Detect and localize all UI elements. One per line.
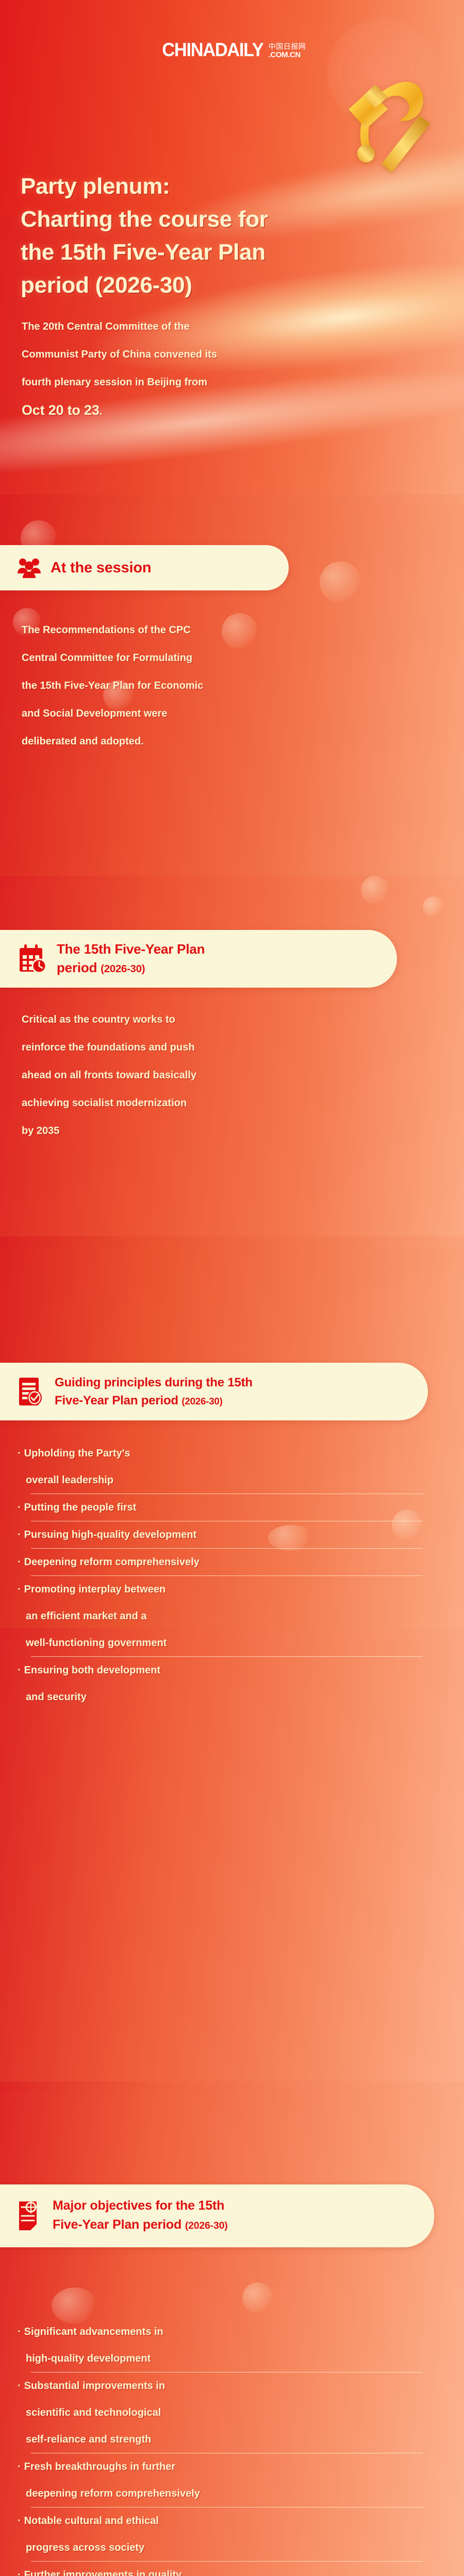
list-item-line: ·Upholding the Party's — [18, 1440, 436, 1467]
list-item-line: well-functioning government — [18, 1630, 436, 1656]
document-target-icon — [18, 2200, 43, 2232]
bullet-marker: · — [18, 1448, 21, 1459]
list-item: ·Ensuring both development and security — [18, 1657, 436, 1710]
list-item-text: Pursuing high-quality development — [24, 1529, 196, 1540]
list-item-text: Further improvements in quality — [24, 2569, 182, 2576]
brand-chinese-name: 中国日报网 — [269, 43, 306, 50]
intro-line-highlight: Oct 20 to 23. — [22, 396, 429, 426]
infographic-poster: CHINADAILY 中国日报网 .COM.CN — [0, 0, 464, 2576]
list-item-line: deepening reform comprehensively — [18, 2480, 436, 2507]
bullet-marker: · — [18, 1584, 21, 1595]
list-item-line: and security — [18, 1684, 436, 1710]
list-item-line: ·Significant advancements in — [18, 2318, 436, 2345]
title-line: the 15th Five-Year Plan — [21, 236, 428, 269]
badge-label: Guiding principles during the 15th Five-… — [55, 1374, 253, 1410]
hammer-and-sickle-icon — [334, 66, 437, 177]
intro-period: . — [100, 406, 103, 417]
bokeh-circle — [423, 896, 443, 917]
badge-label: At the session — [51, 559, 151, 577]
document-check-icon — [18, 1377, 45, 1406]
body-line: by 2035 — [22, 1117, 434, 1145]
section-badge-plan-period[interactable]: The 15th Five-Year Plan period (2026-30) — [0, 930, 397, 988]
title-line: period (2026-30) — [21, 269, 428, 302]
bullet-marker: · — [18, 2461, 21, 2472]
title-line: Party plenum: — [21, 170, 428, 203]
badge-label-line1: Guiding principles during the 15th — [55, 1376, 253, 1389]
list-item: ·Fresh breakthroughs in further deepenin… — [18, 2453, 436, 2507]
body-line: achieving socialist modernization — [22, 1089, 434, 1117]
session-dates: Oct 20 to 23 — [22, 402, 100, 418]
list-item: ·Significant advancements in high-qualit… — [18, 2318, 436, 2372]
list-item-line: ·Pursuing high-quality development — [18, 1521, 436, 1548]
list-item: ·Pursuing high-quality development — [18, 1521, 436, 1548]
body-line: ahead on all fronts toward basically — [22, 1061, 434, 1089]
bullet-marker: · — [18, 1502, 21, 1513]
list-item-text: Significant advancements in — [24, 2326, 163, 2337]
badge-label-subtitle: (2026-30) — [101, 963, 145, 975]
list-item-text: Promoting interplay between — [24, 1584, 165, 1595]
body-line: the 15th Five-Year Plan for Economic — [22, 672, 434, 700]
list-item: ·Substantial improvements in scientific … — [18, 2372, 436, 2453]
list-item-text: Putting the people first — [24, 1502, 137, 1513]
body-line: and Social Development were — [22, 700, 434, 727]
list-item-line: high-quality development — [18, 2345, 436, 2372]
badge-label-line2: Five-Year Plan period — [55, 1394, 178, 1408]
list-item-text: Fresh breakthroughs in further — [24, 2461, 175, 2472]
intro-paragraph: The 20th Central Committee of the Commun… — [22, 313, 429, 426]
list-item-text: Upholding the Party's — [24, 1448, 130, 1459]
list-item: ·Notable cultural and ethical progress a… — [18, 2507, 436, 2561]
bokeh-circle — [242, 2282, 273, 2313]
list-item-line: ·Notable cultural and ethical — [18, 2507, 436, 2534]
list-item-text: Ensuring both development — [24, 1665, 160, 1676]
major-objectives-list: ·Significant advancements in high-qualit… — [18, 2318, 436, 2576]
body-line: The Recommendations of the CPC — [22, 616, 434, 644]
badge-label: The 15th Five-Year Plan period (2026-30) — [57, 940, 205, 978]
list-item-line: ·Ensuring both development — [18, 1657, 436, 1684]
list-item-line: ·Fresh breakthroughs in further — [18, 2453, 436, 2480]
badge-label-subtitle: (2026-30) — [181, 1396, 222, 1406]
bullet-marker: · — [18, 1556, 21, 1568]
list-item-text: Notable cultural and ethical — [24, 2515, 159, 2527]
intro-line: Communist Party of China convened its — [22, 341, 429, 368]
list-item-line: overall leadership — [18, 1467, 436, 1494]
list-item-line: ·Deepening reform comprehensively — [18, 1549, 436, 1575]
bullet-marker: · — [18, 1529, 21, 1540]
people-group-icon — [18, 557, 41, 578]
bullet-marker: · — [18, 2515, 21, 2527]
list-item-line: ·Further improvements in quality — [18, 2562, 436, 2576]
list-item-line: an efficient market and a — [18, 1603, 436, 1630]
badge-label-line2: period — [57, 960, 97, 975]
section-badge-at-the-session[interactable]: At the session — [0, 545, 289, 590]
body-line: Central Committee for Formulating — [22, 644, 434, 672]
list-item-text: Substantial improvements in — [24, 2380, 165, 2392]
bullet-marker: · — [18, 2569, 21, 2576]
guiding-principles-list: ·Upholding the Party's overall leadershi… — [18, 1440, 436, 1710]
section-body-plan-period: Critical as the country works to reinfor… — [22, 1006, 434, 1145]
list-item: ·Promoting interplay between an efficien… — [18, 1576, 436, 1656]
list-item-line: ·Promoting interplay between — [18, 1576, 436, 1603]
bokeh-circle — [361, 876, 389, 904]
header-logo: CHINADAILY 中国日报网 .COM.CN — [0, 40, 464, 59]
list-item: ·Deepening reform comprehensively — [18, 1549, 436, 1575]
brand-domain: .COM.CN — [269, 51, 301, 59]
section-badge-major-objectives[interactable]: Major objectives for the 15th Five-Year … — [0, 2184, 434, 2247]
bullet-marker: · — [18, 2380, 21, 2392]
bullet-marker: · — [18, 1665, 21, 1676]
badge-label-line2: Five-Year Plan period — [53, 2217, 181, 2232]
section-body-at-the-session: The Recommendations of the CPC Central C… — [22, 616, 434, 755]
body-line: Critical as the country works to — [22, 1006, 434, 1033]
badge-label-line1: The 15th Five-Year Plan — [57, 941, 205, 957]
body-line: deliberated and adopted. — [22, 727, 434, 755]
bokeh-circle — [320, 562, 361, 603]
brand-wordmark: CHINADAILY — [162, 40, 263, 59]
list-item-line: ·Putting the people first — [18, 1494, 436, 1521]
badge-label-subtitle: (2026-30) — [185, 2220, 228, 2231]
list-item: ·Putting the people first — [18, 1494, 436, 1521]
list-item-line: ·Substantial improvements in — [18, 2372, 436, 2399]
list-item-line: self-reliance and strength — [18, 2426, 436, 2453]
list-item: ·Further improvements in quality of life — [18, 2562, 436, 2576]
list-item-line: scientific and technological — [18, 2399, 436, 2426]
list-item-text: Deepening reform comprehensively — [24, 1556, 200, 1568]
calendar-clock-icon — [18, 944, 47, 974]
list-item: ·Upholding the Party's overall leadershi… — [18, 1440, 436, 1494]
body-line: reinforce the foundations and push — [22, 1033, 434, 1061]
section-badge-guiding-principles[interactable]: Guiding principles during the 15th Five-… — [0, 1363, 428, 1420]
intro-line: The 20th Central Committee of the — [22, 313, 429, 341]
page-title: Party plenum: Charting the course for th… — [21, 170, 428, 302]
intro-line: fourth plenary session in Beijing from — [22, 368, 429, 396]
badge-label-line1: Major objectives for the 15th — [53, 2198, 224, 2213]
list-item-line: progress across society — [18, 2534, 436, 2561]
bullet-marker: · — [18, 2326, 21, 2337]
badge-label: Major objectives for the 15th Five-Year … — [53, 2196, 228, 2235]
title-line: Charting the course for — [21, 203, 428, 236]
